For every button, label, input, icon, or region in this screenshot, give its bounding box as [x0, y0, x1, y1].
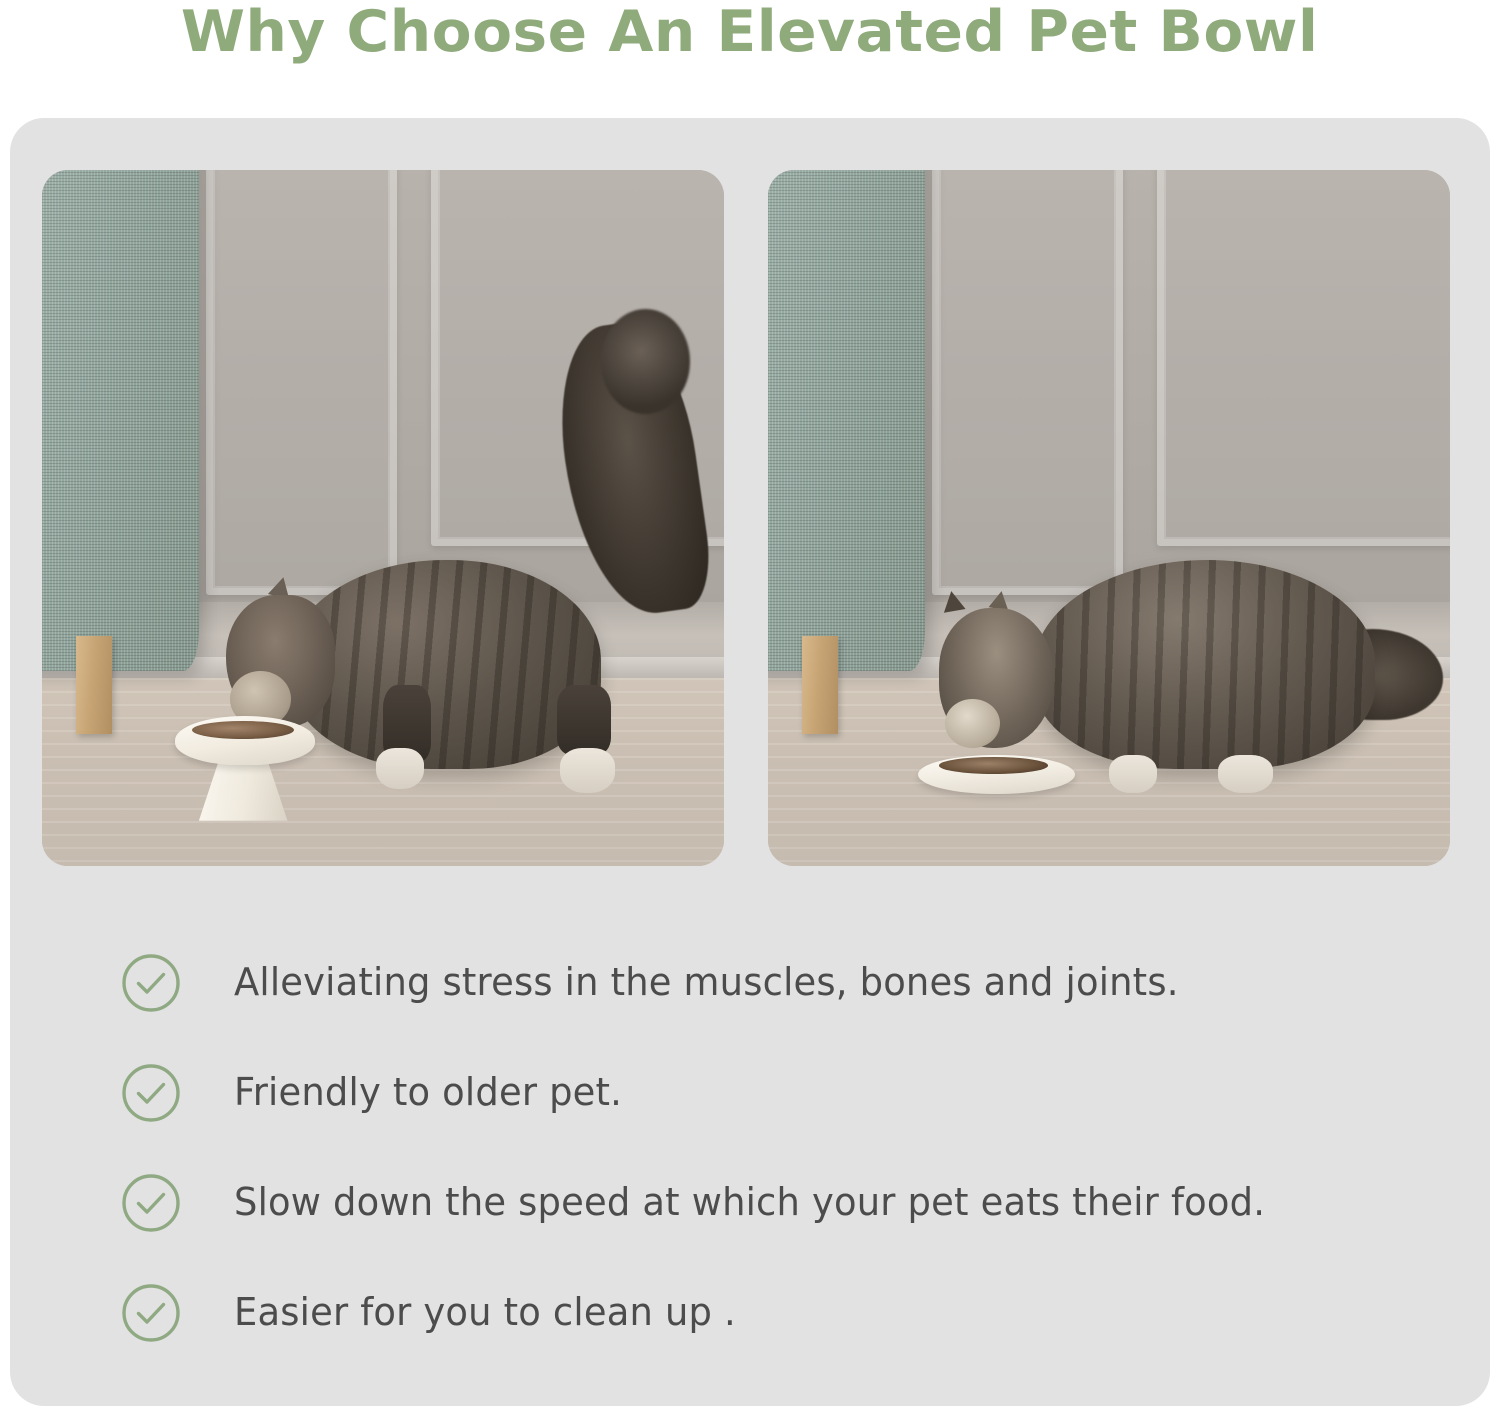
scene-elevated	[42, 170, 724, 866]
page-title: Why Choose An Elevated Pet Bowl	[181, 4, 1319, 61]
list-item: Alleviating stress in the muscles, bones…	[120, 928, 1460, 1038]
pet-food	[939, 757, 1048, 774]
photo-cat-elevated-bowl	[42, 170, 724, 866]
wall-panel-left	[932, 170, 1123, 595]
page-title-container: Why Choose An Elevated Pet Bowl	[0, 0, 1500, 68]
benefit-text: Slow down the speed at which your pet ea…	[234, 1181, 1265, 1225]
upholstered-sofa-leg	[42, 170, 199, 671]
benefit-text: Easier for you to clean up .	[234, 1291, 736, 1335]
wooden-furniture-leg	[76, 636, 111, 733]
cat-paw-rear	[1218, 755, 1273, 793]
list-item: Slow down the speed at which your pet ea…	[120, 1148, 1460, 1258]
list-item: Easier for you to clean up .	[120, 1258, 1460, 1368]
scene-flat-dish	[768, 170, 1450, 866]
check-circle-icon	[120, 1282, 182, 1344]
photo-cat-flat-dish	[768, 170, 1450, 866]
check-circle-icon	[120, 1172, 182, 1234]
benefit-text: Friendly to older pet.	[234, 1071, 622, 1115]
check-circle-icon	[120, 952, 182, 1014]
check-circle-icon	[120, 1062, 182, 1124]
cat-muzzle	[945, 699, 1000, 748]
wooden-furniture-leg	[802, 636, 837, 733]
cat-paw-front	[1109, 755, 1157, 793]
cat-ear-left	[940, 589, 965, 613]
benefits-list: Alleviating stress in the muscles, bones…	[120, 928, 1460, 1368]
cat-paw-rear	[560, 748, 615, 793]
wall-panel-left	[206, 170, 397, 595]
upholstered-sofa-leg	[768, 170, 925, 671]
cat-tabby-stripes	[1034, 560, 1375, 769]
wall-panel-right	[1157, 170, 1450, 546]
cat-tail-tip	[601, 309, 690, 413]
cat-hindleg	[557, 685, 612, 755]
feature-card: Alleviating stress in the muscles, bones…	[10, 118, 1490, 1406]
list-item: Friendly to older pet.	[120, 1038, 1460, 1148]
benefit-text: Alleviating stress in the muscles, bones…	[234, 961, 1179, 1005]
cat-paw-front	[376, 748, 424, 790]
